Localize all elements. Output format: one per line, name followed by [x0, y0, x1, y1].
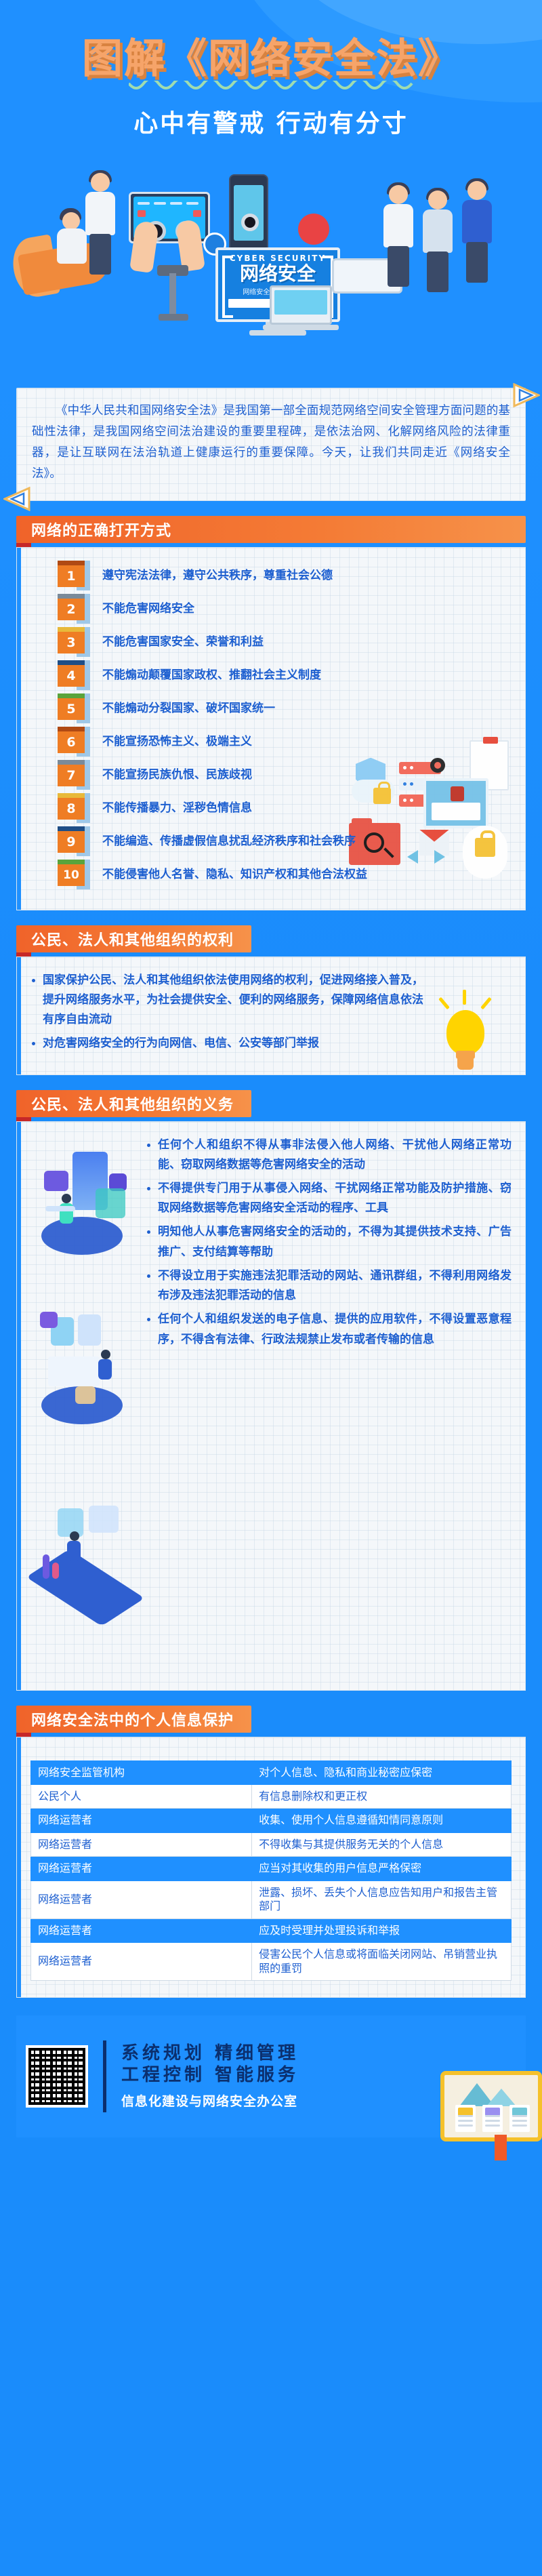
- list-item: 明知他人从事危害网络安全的活动的，不得为其提供技术支持、广告推广、支付结算等帮助: [146, 1222, 512, 1262]
- table-row: 公民个人 有信息删除权和更正权: [31, 1784, 512, 1808]
- section-duties-panel: 任何个人和组织不得从事非法侵入他人网络、干扰他人网络正常功能、窃取网络数据等危害…: [16, 1121, 526, 1691]
- section-privacy-header: 网络安全法中的个人信息保护: [16, 1706, 526, 1737]
- phone-screen: [234, 185, 264, 241]
- list-item: 不得提供专门用于从事侵入网络、干扰网络正常功能及防护措施、窃取网络数据等危害网络…: [146, 1179, 512, 1218]
- usage-list: 1 遵守宪法法律，遵守公共秩序，尊重社会公德 2 不能危害网络安全 3 不能危: [30, 561, 512, 890]
- item-number: 7: [58, 765, 85, 786]
- laptop-base: [263, 325, 339, 330]
- panel-accent-bar: [17, 1737, 21, 1998]
- hero-banner: 图解《网络安全法》 心中有警戒 行动有分寸: [0, 0, 542, 380]
- section-usage-panel: 1 遵守宪法法律，遵守公共秩序，尊重社会公德 2 不能危害网络安全 3 不能危: [16, 547, 526, 910]
- item-number: 4: [58, 665, 85, 687]
- intro-paragraph: 《中华人民共和国网络安全法》是我国第一部全面规范网络空间安全管理方面问题的基础性…: [32, 401, 510, 485]
- item-text: 不能传播暴力、淫秽色情信息: [102, 801, 252, 816]
- billboard-card-1: [455, 2105, 476, 2132]
- person-standing-1: [379, 185, 417, 287]
- table-cell-duty: 应及时受理并处理投诉和举报: [252, 1918, 512, 1942]
- table-cell-duty: 应当对其收集的用户信息严格保密: [252, 1857, 512, 1880]
- intro-card: 《中华人民共和国网络安全法》是我国第一部全面规范网络空间安全管理方面问题的基础性…: [16, 388, 526, 501]
- footer-divider: [103, 2040, 106, 2112]
- list-item: 对危害网络安全的行为向网信、电信、公安等部门举报: [30, 1034, 423, 1053]
- list-item: 4 不能煽动颠覆国家政权、推翻社会主义制度: [30, 661, 512, 691]
- phone-knob: [241, 214, 259, 231]
- item-fold: [58, 561, 85, 565]
- table-row: 网络安全监管机构 对个人信息、隐私和商业秘密应保密: [31, 1760, 512, 1784]
- camera-base: [159, 314, 188, 321]
- item-number: 2: [58, 599, 85, 620]
- item-text: 不能宣扬恐怖主义、极端主义: [102, 734, 252, 750]
- alert-circle-icon: [298, 214, 329, 245]
- item-text: 不能危害网络安全: [102, 601, 194, 617]
- item-text: 不能煽动分裂国家、破坏国家统一: [102, 701, 275, 717]
- person-standing-4: [81, 173, 119, 275]
- list-item: 9 不能编造、传播虚假信息扰乱经济秩序和社会秩序: [30, 827, 512, 857]
- section-privacy-panel: 网络安全监管机构 对个人信息、隐私和商业秘密应保密 公民个人 有信息删除权和更正…: [16, 1737, 526, 1998]
- item-text: 遵守宪法法律，遵守公共秩序，尊重社会公德: [102, 568, 333, 584]
- panel-accent-bar: [17, 957, 21, 1074]
- billboard-card-3: [509, 2105, 530, 2132]
- item-number: 10: [58, 864, 85, 886]
- privacy-protection-table: 网络安全监管机构 对个人信息、隐私和商业秘密应保密 公民个人 有信息删除权和更正…: [30, 1760, 512, 1981]
- list-item: 7 不能宣扬民族仇恨、民族歧视: [30, 761, 512, 790]
- list-item: 2 不能危害网络安全: [30, 595, 512, 624]
- item-number: 3: [58, 632, 85, 653]
- item-number-tag: 4: [58, 665, 90, 687]
- item-text: 不能侵害他人名誉、隐私、知识产权和其他合法权益: [102, 867, 367, 883]
- table-cell-duty: 泄露、损坏、丢失个人信息应告知用户和报告主管部门: [252, 1880, 512, 1918]
- section-usage-header: 网络的正确打开方式: [16, 516, 526, 547]
- lightbulb-neck: [456, 1051, 475, 1059]
- panel-accent-bar: [17, 1122, 21, 1690]
- qr-code[interactable]: [26, 2045, 88, 2108]
- table-cell-subject: 网络运营者: [31, 1809, 252, 1832]
- table-cell-subject: 公民个人: [31, 1784, 252, 1808]
- table-row: 网络运营者 不得收集与其提供服务无关的个人信息: [31, 1832, 512, 1856]
- item-number-tag: 8: [58, 798, 90, 820]
- billboard-illustration: [440, 2071, 542, 2141]
- item-number-tag: 1: [58, 565, 90, 587]
- table-row: 网络运营者 应及时受理并处理投诉和举报: [31, 1918, 512, 1942]
- table-cell-subject: 网络运营者: [31, 1880, 252, 1918]
- section-duties-header: 公民、法人和其他组织的义务: [16, 1090, 526, 1121]
- list-item: 国家保护公民、法人和其他组织依法使用网络的权利，促进网络接入普及，提升网络服务水…: [30, 971, 423, 1030]
- table-cell-duty: 对个人信息、隐私和商业秘密应保密: [252, 1760, 512, 1784]
- lightbulb-base: [457, 1059, 474, 1070]
- table-cell-subject: 网络运营者: [31, 1918, 252, 1942]
- section-rights-panel: 国家保护公民、法人和其他组织依法使用网络的权利，促进网络接入普及，提升网络服务水…: [16, 957, 526, 1075]
- table-cell-subject: 网络运营者: [31, 1943, 252, 1981]
- lightbulb-icon: [446, 1010, 484, 1055]
- monitor-base: [249, 330, 306, 336]
- person-head: [62, 212, 80, 230]
- item-text: 不能编造、传播虚假信息扰乱经济秩序和社会秩序: [102, 834, 356, 849]
- item-text: 不能宣扬民族仇恨、民族歧视: [102, 767, 252, 783]
- duties-illustrations: [30, 1135, 146, 1671]
- table-cell-duty: 侵害公民个人信息或将面临关闭网站、吊销营业执照的重罚: [252, 1943, 512, 1981]
- laptop-device: [270, 285, 332, 325]
- item-number: 1: [58, 565, 85, 587]
- item-number: 8: [58, 798, 85, 820]
- item-number: 6: [58, 731, 85, 753]
- table-cell-duty: 不得收集与其提供服务无关的个人信息: [252, 1832, 512, 1856]
- billboard-card-2: [482, 2105, 503, 2132]
- table-row: 网络运营者 侵害公民个人信息或将面临关闭网站、吊销营业执照的重罚: [31, 1943, 512, 1981]
- camera-pole: [169, 273, 176, 317]
- list-item: 1 遵守宪法法律，遵守公共秩序，尊重社会公德: [30, 561, 512, 591]
- item-number-tag: 7: [58, 765, 90, 786]
- list-item: 6 不能宣扬恐怖主义、极端主义: [30, 727, 512, 757]
- page-title: 图解《网络安全法》: [0, 0, 542, 85]
- monitor-cyber-label: CYBER SECURITY: [218, 254, 337, 263]
- list-item: 5 不能煽动分裂国家、破坏国家统一: [30, 694, 512, 724]
- isometric-illustration-2: [30, 1291, 146, 1495]
- title-squiggle-decoration: [129, 81, 413, 93]
- person-standing-2: [419, 190, 457, 292]
- lightbulb-illustration: [430, 971, 512, 1058]
- monitor-main-label: 网络安全: [218, 264, 337, 283]
- list-item: 8 不能传播暴力、淫秽色情信息: [30, 794, 512, 824]
- mountain-icon-2: [486, 2089, 516, 2106]
- footer: 系统规划 精细管理 工程控制 智能服务 信息化建设与网络安全办公室: [16, 2015, 526, 2137]
- billboard-post: [495, 2135, 507, 2160]
- section-duties-title: 公民、法人和其他组织的义务: [16, 1090, 251, 1117]
- section-rights-title: 公民、法人和其他组织的权利: [16, 925, 251, 952]
- section-privacy: 网络安全法中的个人信息保护 网络安全监管机构 对个人信息、隐私和商业秘密应保密 …: [16, 1706, 526, 1998]
- triangle-badge-icon: [513, 383, 537, 406]
- person-standing-3: [458, 181, 496, 283]
- section-usage-title: 网络的正确打开方式: [16, 516, 526, 543]
- table-cell-subject: 网络安全监管机构: [31, 1760, 252, 1784]
- list-item: 不得设立用于实施违法犯罪活动的网站、通讯群组，不得利用网络发布涉及违法犯罪活动的…: [146, 1266, 512, 1306]
- footer-slogan-line-1: 系统规划 精细管理: [121, 2043, 526, 2065]
- item-number-tag: 2: [58, 599, 90, 620]
- panel-accent-bar: [17, 548, 21, 910]
- item-number-tag: 3: [58, 632, 90, 653]
- item-number-tag: 10: [58, 864, 90, 886]
- table-row: 网络运营者 泄露、损坏、丢失个人信息应告知用户和报告主管部门: [31, 1880, 512, 1918]
- table-cell-duty: 有信息删除权和更正权: [252, 1784, 512, 1808]
- item-number: 5: [58, 698, 85, 720]
- section-duties: 公民、法人和其他组织的义务: [16, 1090, 526, 1691]
- table-cell-duty: 收集、使用个人信息遵循知情同意原则: [252, 1809, 512, 1832]
- list-item: 任何个人和组织不得从事非法侵入他人网络、干扰他人网络正常功能、窃取网络数据等危害…: [146, 1135, 512, 1175]
- table-row: 网络运营者 收集、使用个人信息遵循知情同意原则: [31, 1809, 512, 1832]
- list-item: 任何个人和组织发送的电子信息、提供的应用软件，不得设置恶意程序，不得含有法律、行…: [146, 1310, 512, 1349]
- section-network-usage: 网络的正确打开方式: [16, 516, 526, 910]
- section-rights: 公民、法人和其他组织的权利 国家保护公民、法人和其他组织依法使用网络的权利，促进…: [16, 925, 526, 1075]
- item-number-tag: 6: [58, 731, 90, 753]
- item-number: 9: [58, 831, 85, 853]
- hero-illustration: CYBER SECURITY 网络安全 网络安全为人民/靠人民: [0, 132, 542, 349]
- item-number-tag: 9: [58, 831, 90, 853]
- laptop-screen: [274, 290, 327, 315]
- duties-bullet-list: 任何个人和组织不得从事非法侵入他人网络、干扰他人网络正常功能、窃取网络数据等危害…: [146, 1135, 512, 1350]
- qr-code-pattern: [28, 2048, 85, 2105]
- isometric-illustration-1: [30, 1135, 146, 1291]
- table-cell-subject: 网络运营者: [31, 1857, 252, 1880]
- bracket-left: [222, 256, 233, 318]
- section-rights-header: 公民、法人和其他组织的权利: [16, 925, 526, 957]
- triangle-badge-icon-2: [3, 487, 28, 510]
- table-row: 网络运营者 应当对其收集的用户信息严格保密: [31, 1857, 512, 1880]
- item-number-tag: 5: [58, 698, 90, 720]
- list-item: 10 不能侵害他人名誉、隐私、知识产权和其他合法权益: [30, 860, 512, 890]
- rights-bullet-list: 国家保护公民、法人和其他组织依法使用网络的权利，促进网络接入普及，提升网络服务水…: [30, 971, 423, 1054]
- section-privacy-title: 网络安全法中的个人信息保护: [16, 1706, 251, 1733]
- list-item: 3 不能危害国家安全、荣誉和利益: [30, 628, 512, 658]
- item-text: 不能危害国家安全、荣誉和利益: [102, 635, 264, 650]
- isometric-illustration-3: [30, 1495, 146, 1671]
- smartphone-device: [229, 174, 268, 254]
- table-cell-subject: 网络运营者: [31, 1832, 252, 1856]
- item-text: 不能煽动颠覆国家政权、推翻社会主义制度: [102, 668, 321, 683]
